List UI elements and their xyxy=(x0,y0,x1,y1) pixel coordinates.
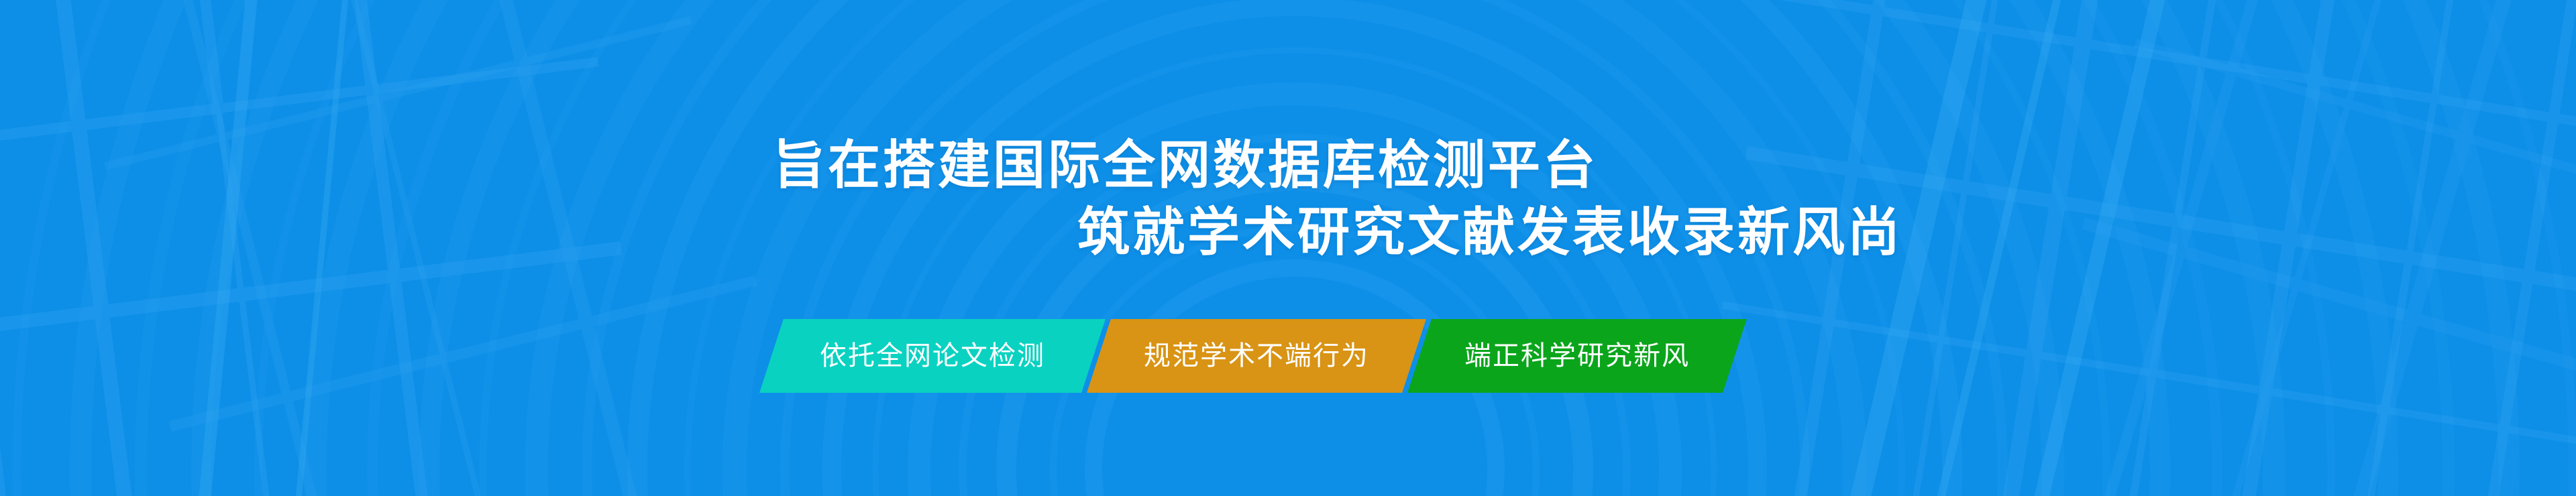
feature-tag-1[interactable]: 依托全网论文检测 xyxy=(759,319,1106,393)
feature-tag-1-label: 依托全网论文检测 xyxy=(820,319,1045,393)
headline-line-2: 筑就学术研究文献发表收录新风尚 xyxy=(0,198,2576,265)
feature-tag-3[interactable]: 端正科学研究新风 xyxy=(1407,319,1747,393)
feature-tag-2-label: 规范学术不端行为 xyxy=(1144,319,1369,393)
hero-banner: 旨在搭建国际全网数据库检测平台 筑就学术研究文献发表收录新风尚 依托全网论文检测… xyxy=(0,0,2576,496)
feature-tag-bar: 依托全网论文检测 规范学术不端行为 端正科学研究新风 xyxy=(771,319,1818,393)
headline: 旨在搭建国际全网数据库检测平台 筑就学术研究文献发表收录新风尚 xyxy=(0,131,2576,265)
feature-tag-2[interactable]: 规范学术不端行为 xyxy=(1087,319,1426,393)
headline-line-1: 旨在搭建国际全网数据库检测平台 xyxy=(0,131,2576,198)
feature-tag-3-label: 端正科学研究新风 xyxy=(1464,319,1690,393)
